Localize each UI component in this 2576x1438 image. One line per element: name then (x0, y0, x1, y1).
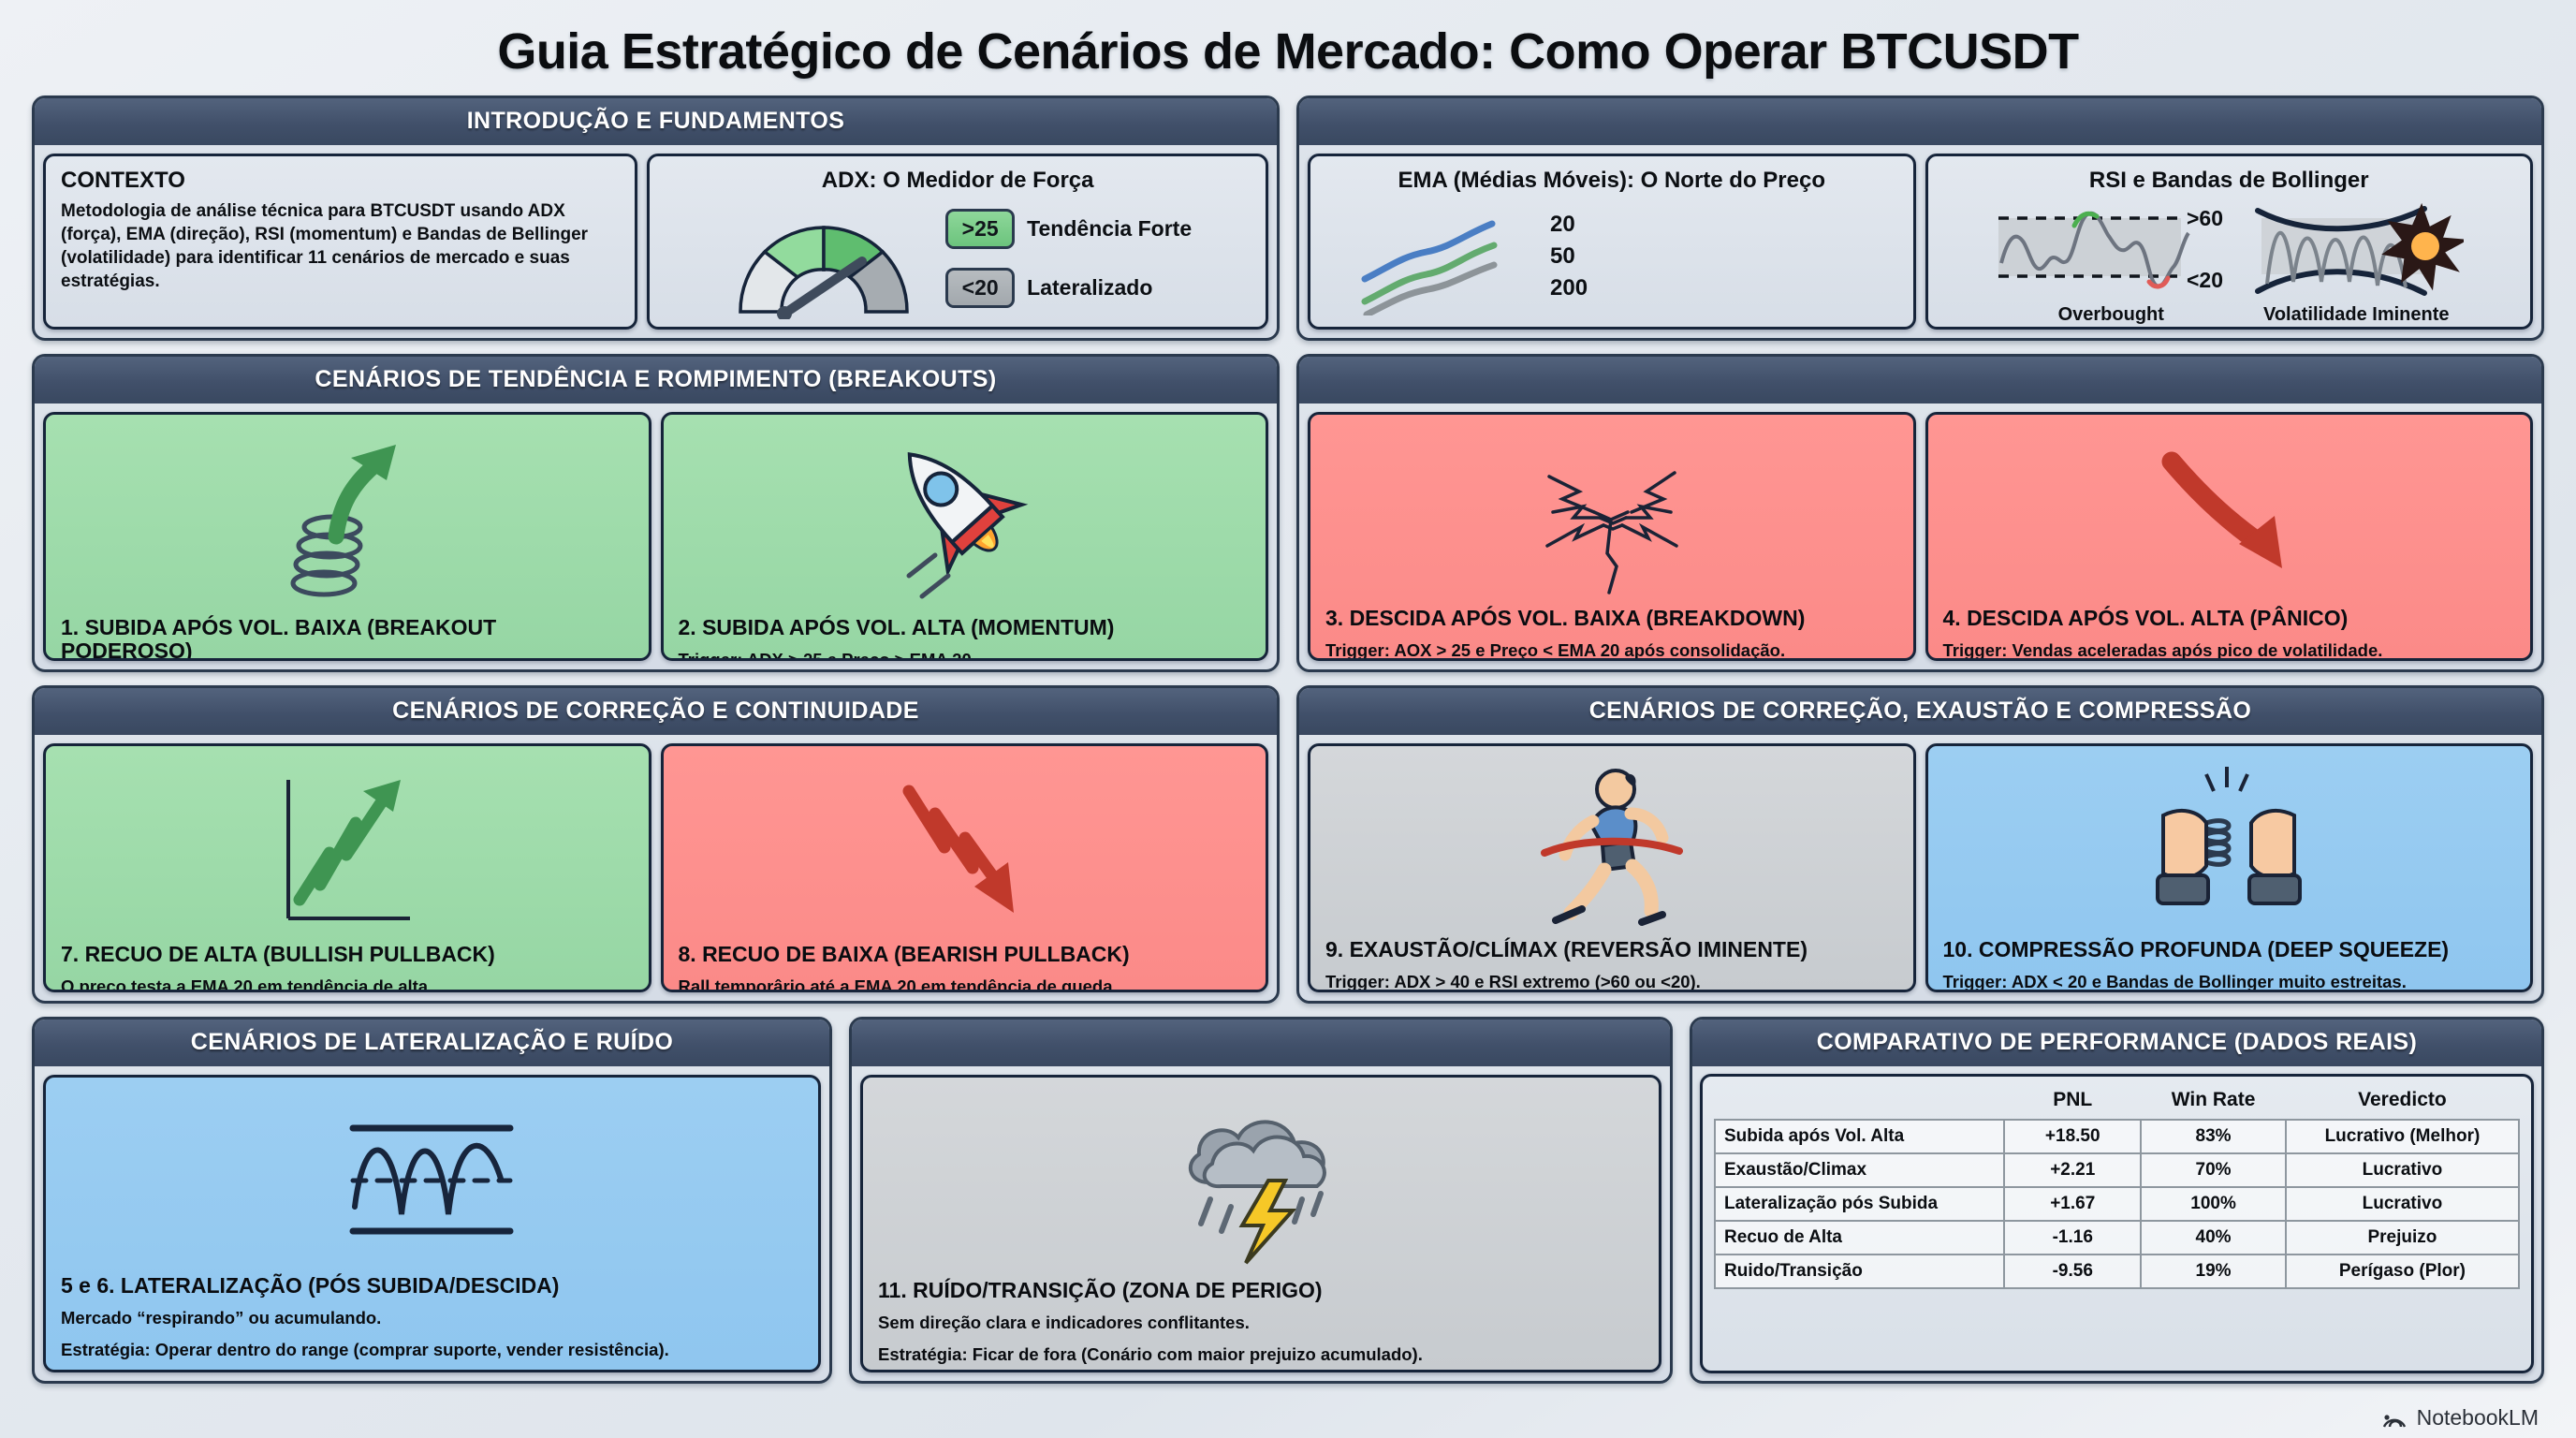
panel-header-introducao: INTRODUÇÃO E FUNDAMENTOS (35, 98, 1277, 145)
adx-weak-label: Lateralizado (1027, 275, 1152, 301)
notebooklm-logo-icon (2380, 1406, 2408, 1431)
intro-column-right: EMA (Médias Móveis): O Norte do Preço (1296, 95, 2544, 341)
table-row: Subida após Vol. Alta +18.50 83% Lucrati… (1715, 1120, 2519, 1153)
table-header-row: PNL Win Rate Veredicto (1715, 1086, 2519, 1120)
ema-label-200: 200 (1550, 275, 1588, 301)
infographic-page: Guia Estratégico de Cenários de Mercado:… (0, 0, 2576, 1438)
panel-header-indicadores-blank (1299, 98, 2541, 145)
card-ema: EMA (Médias Móveis): O Norte do Preço (1308, 154, 1916, 330)
panel-indicadores: EMA (Médias Móveis): O Norte do Preço (1296, 95, 2544, 341)
ema-label-50: 50 (1550, 243, 1588, 270)
adx-legend-strong: >25 Tendência Forte (945, 209, 1192, 249)
scenario-4-trigger-text: Vendas aceleradas após pico de volatilid… (2007, 640, 2382, 660)
card-contexto: CONTEXTO Metodologia de análise técnica … (43, 154, 637, 330)
notebooklm-watermark: NotebookLM (2380, 1405, 2539, 1431)
scenario-11-strategy-text: Ficar de fora (Conário com maior prejuiz… (968, 1344, 1423, 1364)
scenario-3-heading: 3. DESCIDA APÓS VOL. BAIXA (BREAKDOWN) (1325, 607, 1898, 630)
storm-cloud-icon (878, 1089, 1644, 1271)
adx-weak-pill: <20 (945, 268, 1015, 308)
row-4-name: Ruido/Transição (1715, 1255, 2004, 1288)
scenario-2-trigger-text: ADX > 25 e Preço > EMA 20. (742, 650, 976, 661)
panel-lateralizacao: CENÁRIOS DE LATERALIZAÇÃO E RUÍDO (32, 1017, 832, 1384)
panel-ruido: 11. RUÍDO/TRANSIÇÃO (ZONA DE PERIGO) Sem… (849, 1017, 1673, 1384)
zigzag-down-icon (679, 757, 1251, 935)
panel-header-exaustao-compressao: CENÁRIOS DE CORREÇÃO, EXAUSTÃO E COMPRES… (1299, 688, 2541, 735)
row-0-verdict: Lucrativo (Melhor) (2286, 1120, 2519, 1153)
arrow-down-icon (1943, 426, 2516, 599)
row-3-pnl: -1.16 (2004, 1221, 2141, 1255)
panel-header-breakouts: CENÁRIOS DE TENDÊNCIA E ROMPIMENTO (BREA… (35, 357, 1277, 404)
scenario-7-trigger: O preço testa a EMA 20 em tendência de a… (61, 976, 634, 992)
table-row: Recuo de Alta -1.16 40% Prejuizo (1715, 1221, 2519, 1255)
panel-header-correcao-continuidade: CENÁRIOS DE CORREÇÃO E CONTINUIDADE (35, 688, 1277, 735)
row-2-winrate: 100% (2141, 1187, 2286, 1221)
scenario-card-1: 1. SUBIDA APÓS VOL. BAIXA (BREAKOUT PODE… (43, 412, 651, 661)
panel-breakdowns: 3. DESCIDA APÓS VOL. BAIXA (BREAKDOWN) T… (1296, 354, 2544, 672)
scenario-card-5-6: 5 e 6. LATERALIZAÇÃO (PÓS SUBIDA/DESCIDA… (43, 1075, 821, 1372)
adx-strong-label: Tendência Forte (1027, 216, 1192, 242)
scenario-5-6-strategy-text: Operar dentro do range (comprar suporte,… (151, 1340, 669, 1359)
crack-icon (1325, 426, 1898, 599)
performance-table-card: PNL Win Rate Veredicto Subida após Vol. … (1700, 1074, 2534, 1373)
scenario-card-2: 2. SUBIDA APÓS VOL. ALTA (MOMENTUM) Trig… (661, 412, 1269, 661)
col-header-scenario (1715, 1086, 2004, 1120)
panel-introducao: INTRODUÇÃO E FUNDAMENTOS CONTEXTO Metodo… (32, 95, 1280, 341)
ruido-column: 11. RUÍDO/TRANSIÇÃO (ZONA DE PERIGO) Sem… (849, 1017, 1673, 1384)
scenario-5-6-trigger-text: Mercado “respirando” ou acumulando. (61, 1308, 381, 1328)
row-1-pnl: +2.21 (2004, 1153, 2141, 1187)
row-3-verdict: Prejuizo (2286, 1221, 2519, 1255)
scenario-11-strategy-label: Estratégia: (878, 1344, 968, 1364)
scenario-card-9: 9. EXAUSTÃO/CLÍMAX (REVERSÃO IMINENTE) T… (1308, 743, 1916, 992)
scenario-1-heading: 1. SUBIDA APÓS VOL. BAIXA (BREAKOUT PODE… (61, 616, 634, 661)
scenario-11-trigger: Sem direção clara e indicadores conflita… (878, 1312, 1644, 1333)
bollinger-group: Volatilidade Iminente (2248, 198, 2464, 326)
scenario-3-trigger-label: Trigger: (1325, 640, 1390, 660)
panel-header-breakdowns-blank (1299, 357, 2541, 404)
row-1-winrate: 70% (2141, 1153, 2286, 1187)
table-row: Lateralização pós Subida +1.67 100% Lucr… (1715, 1187, 2519, 1221)
scenario-5-6-strategy-label: Estratégia: (61, 1340, 151, 1359)
row-4-verdict: Perígaso (Plor) (2286, 1255, 2519, 1288)
row-breakouts: CENÁRIOS DE TENDÊNCIA E ROMPIMENTO (BREA… (32, 354, 2544, 672)
zigzag-up-icon (61, 757, 634, 935)
rsi-chart-group: >60 <20 Overbought (1994, 198, 2228, 326)
notebooklm-label: NotebookLM (2417, 1405, 2539, 1431)
breakouts-right: 3. DESCIDA APÓS VOL. BAIXA (BREAKDOWN) T… (1296, 354, 2544, 672)
scenario-4-trigger: Trigger: Vendas aceleradas após pico de … (1943, 639, 2516, 661)
panel-header-performance: COMPARATIVO DE PERFORMANCE (DADOS REAIS) (1692, 1020, 2541, 1066)
contexto-body: Metodologia de análise técnica para BTCU… (61, 199, 620, 293)
ema-lines-icon (1354, 198, 1541, 315)
rsi-caption-overbought: Overbought (2058, 304, 2164, 326)
row-3-name: Recuo de Alta (1715, 1221, 2004, 1255)
rsi-title: RSI e Bandas de Bollinger (1943, 168, 2516, 194)
card-rsi-bollinger: RSI e Bandas de Bollinger (1925, 154, 2534, 330)
correcao-right: CENÁRIOS DE CORREÇÃO, EXAUSTÃO E COMPRES… (1296, 685, 2544, 1004)
scenario-card-11: 11. RUÍDO/TRANSIÇÃO (ZONA DE PERIGO) Sem… (860, 1075, 1661, 1372)
row-introduction: INTRODUÇÃO E FUNDAMENTOS CONTEXTO Metodo… (32, 95, 2544, 341)
scenario-9-trigger-text: ADX > 40 e RSI extremo (>60 ou <20). (1390, 972, 1701, 991)
svg-text:>60: >60 (2187, 206, 2223, 230)
panel-exaustao-compressao: CENÁRIOS DE CORREÇÃO, EXAUSTÃO E COMPRES… (1296, 685, 2544, 1004)
bollinger-caption: Volatilidade Iminente (2263, 304, 2450, 326)
scenario-10-trigger: Trigger: ADX < 20 e Bandas de Bollinger … (1943, 971, 2516, 992)
scenario-card-10: 10. COMPRESSÃO PROFUNDA (DEEP SQUEEZE) T… (1925, 743, 2534, 992)
panel-performance: COMPARATIVO DE PERFORMANCE (DADOS REAIS)… (1690, 1017, 2544, 1384)
scenario-11-heading: 11. RUÍDO/TRANSIÇÃO (ZONA DE PERIGO) (878, 1279, 1644, 1302)
row-1-verdict: Lucrativo (2286, 1153, 2519, 1187)
row-2-name: Lateralização pós Subida (1715, 1187, 2004, 1221)
row-0-pnl: +18.50 (2004, 1120, 2141, 1153)
scenario-card-3: 3. DESCIDA APÓS VOL. BAIXA (BREAKDOWN) T… (1308, 412, 1916, 661)
col-header-veredicto: Veredicto (2286, 1086, 2519, 1120)
row-4-winrate: 19% (2141, 1255, 2286, 1288)
row-0-name: Subida após Vol. Alta (1715, 1120, 2004, 1153)
table-row: Ruido/Transição -9.56 19% Perígaso (Plor… (1715, 1255, 2519, 1288)
scenario-11-strategy: Estratégia: Ficar de fora (Conário com m… (878, 1343, 1644, 1365)
scenario-10-trigger-text: ADX < 20 e Bandas de Bollinger muito est… (2007, 972, 2407, 991)
row-0-winrate: 83% (2141, 1120, 2286, 1153)
scenario-2-heading: 2. SUBIDA APÓS VOL. ALTA (MOMENTUM) (679, 616, 1251, 639)
scenario-2-trigger: Trigger: ADX > 25 e Preço > EMA 20. (679, 649, 1251, 661)
scenario-8-trigger: Rall temporârio até a EMA 20 em tendênci… (679, 976, 1251, 992)
panel-correcao-continuidade: CENÁRIOS DE CORREÇÃO E CONTINUIDADE (32, 685, 1280, 1004)
adx-strong-pill: >25 (945, 209, 1015, 249)
hands-spring-icon (1943, 757, 2516, 931)
scenario-3-trigger-text: AOX > 25 e Preço < EMA 20 após consolida… (1390, 640, 1785, 660)
row-2-verdict: Lucrativo (2286, 1187, 2519, 1221)
intro-column-left: INTRODUÇÃO E FUNDAMENTOS CONTEXTO Metodo… (32, 95, 1280, 341)
scenario-9-heading: 9. EXAUSTÃO/CLÍMAX (REVERSÃO IMINENTE) (1325, 938, 1898, 961)
adx-gauge-icon (724, 198, 925, 319)
scenario-8-trigger-text: Rall temporârio até a EMA 20 em tendênci… (679, 976, 1118, 992)
scenario-5-6-heading: 5 e 6. LATERALIZAÇÃO (PÓS SUBIDA/DESCIDA… (61, 1274, 803, 1298)
panel-header-lateralizacao: CENÁRIOS DE LATERALIZAÇÃO E RUÍDO (35, 1020, 829, 1066)
performance-table: PNL Win Rate Veredicto Subida após Vol. … (1714, 1086, 2520, 1289)
scenario-card-7: 7. RECUO DE ALTA (BULLISH PULLBACK) O pr… (43, 743, 651, 992)
row-1-name: Exaustão/Climax (1715, 1153, 2004, 1187)
panel-header-ruido-blank (852, 1020, 1670, 1066)
runner-icon (1325, 757, 1898, 931)
row-correcao: CENÁRIOS DE CORREÇÃO E CONTINUIDADE (32, 685, 2544, 1004)
card-adx: ADX: O Medidor de Força (647, 154, 1268, 330)
svg-text:<20: <20 (2187, 268, 2223, 292)
scenario-card-8: 8. RECUO DE BAIXA (BEARISH PULLBACK) Ral… (661, 743, 1269, 992)
page-title: Guia Estratégico de Cenários de Mercado:… (32, 9, 2544, 95)
rocket-icon (679, 426, 1251, 609)
scenario-7-trigger-text: O preço testa a EMA 20 em tendência de a… (61, 976, 432, 992)
row-lateralizacao-performance: CENÁRIOS DE LATERALIZAÇÃO E RUÍDO (32, 1017, 2544, 1384)
scenario-5-6-strategy: Estratégia: Operar dentro do range (comp… (61, 1339, 803, 1360)
scenario-11-trigger-text: Sem direção clara e indicadores conflita… (878, 1313, 1250, 1332)
ema-label-20: 20 (1550, 212, 1588, 238)
contexto-title: CONTEXTO (61, 168, 620, 194)
lateralizacao-column: CENÁRIOS DE LATERALIZAÇÃO E RUÍDO (32, 1017, 832, 1384)
row-2-pnl: +1.67 (2004, 1187, 2141, 1221)
adx-legend-weak: <20 Lateralizado (945, 268, 1192, 308)
scenario-10-heading: 10. COMPRESSÃO PROFUNDA (DEEP SQUEEZE) (1943, 938, 2516, 961)
table-row: Exaustão/Climax +2.21 70% Lucrativo (1715, 1153, 2519, 1187)
col-header-winrate: Win Rate (2141, 1086, 2286, 1120)
col-header-pnl: PNL (2004, 1086, 2141, 1120)
panel-breakouts: CENÁRIOS DE TENDÊNCIA E ROMPIMENTO (BREA… (32, 354, 1280, 672)
sine-range-icon (61, 1089, 803, 1267)
scenario-card-4: 4. DESCIDA APÓS VOL. ALTA (PÂNICO) Trigg… (1925, 412, 2534, 661)
rsi-chart-icon: >60 <20 (1994, 198, 2228, 302)
scenario-4-trigger-label: Trigger: (1943, 640, 2008, 660)
scenario-4-heading: 4. DESCIDA APÓS VOL. ALTA (PÂNICO) (1943, 607, 2516, 630)
scenario-10-trigger-label: Trigger: (1943, 972, 2008, 991)
adx-title: ADX: O Medidor de Força (665, 168, 1251, 194)
scenario-9-trigger: Trigger: ADX > 40 e RSI extremo (>60 ou … (1325, 971, 1898, 992)
breakouts-left: CENÁRIOS DE TENDÊNCIA E ROMPIMENTO (BREA… (32, 354, 1280, 672)
scenario-8-heading: 8. RECUO DE BAIXA (BEARISH PULLBACK) (679, 943, 1251, 966)
scenario-3-trigger: Trigger: AOX > 25 e Preço < EMA 20 após … (1325, 639, 1898, 661)
spring-arrow-up-icon (61, 426, 634, 609)
bollinger-squeeze-icon (2248, 198, 2464, 302)
scenario-2-trigger-label: Trigger: (679, 650, 743, 661)
performance-column: COMPARATIVO DE PERFORMANCE (DADOS REAIS)… (1690, 1017, 2544, 1384)
row-3-winrate: 40% (2141, 1221, 2286, 1255)
correcao-left: CENÁRIOS DE CORREÇÃO E CONTINUIDADE (32, 685, 1280, 1004)
scenario-5-6-trigger: Mercado “respirando” ou acumulando. (61, 1307, 803, 1328)
row-4-pnl: -9.56 (2004, 1255, 2141, 1288)
scenario-9-trigger-label: Trigger: (1325, 972, 1390, 991)
scenario-7-heading: 7. RECUO DE ALTA (BULLISH PULLBACK) (61, 943, 634, 966)
ema-title: EMA (Médias Móveis): O Norte do Preço (1325, 168, 1898, 194)
